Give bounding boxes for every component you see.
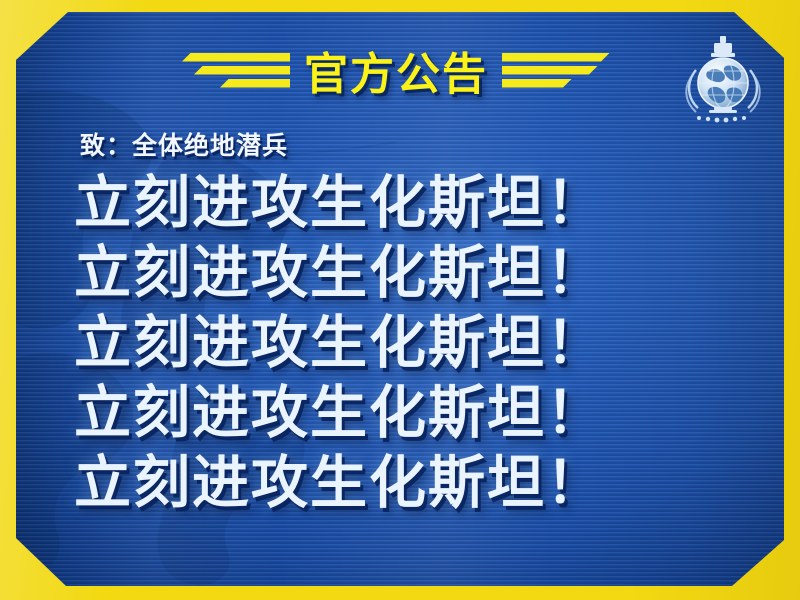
message-line: 立刻进攻生化斯坦！ <box>74 168 754 238</box>
super-earth-globe-icon <box>680 30 766 126</box>
title-block: 官方公告 <box>156 34 636 106</box>
wing-bar <box>502 66 598 75</box>
wing-bar <box>220 79 290 88</box>
message-line: 立刻进攻生化斯坦！ <box>74 378 754 448</box>
message-block: 立刻进攻生化斯坦！ 立刻进攻生化斯坦！ 立刻进攻生化斯坦！ 立刻进攻生化斯坦！ … <box>74 168 754 518</box>
announcement-panel: 官方公告 <box>16 12 784 586</box>
addressee-line: 致：全体绝地潜兵 <box>80 126 288 162</box>
message-line: 立刻进攻生化斯坦！ <box>74 308 754 378</box>
wing-bar <box>502 53 610 62</box>
page-title: 官方公告 <box>304 38 488 102</box>
wing-bar <box>502 79 572 88</box>
message-line: 立刻进攻生化斯坦！ <box>74 448 754 518</box>
wing-right-icon <box>502 53 610 88</box>
message-line: 立刻进攻生化斯坦！ <box>74 238 754 308</box>
header-row: 官方公告 <box>16 34 784 106</box>
panel-content: 官方公告 <box>16 12 784 586</box>
announcement-frame: 官方公告 <box>0 0 800 600</box>
wing-bar <box>182 53 290 62</box>
wing-bar <box>194 66 290 75</box>
wing-left-icon <box>182 53 290 88</box>
